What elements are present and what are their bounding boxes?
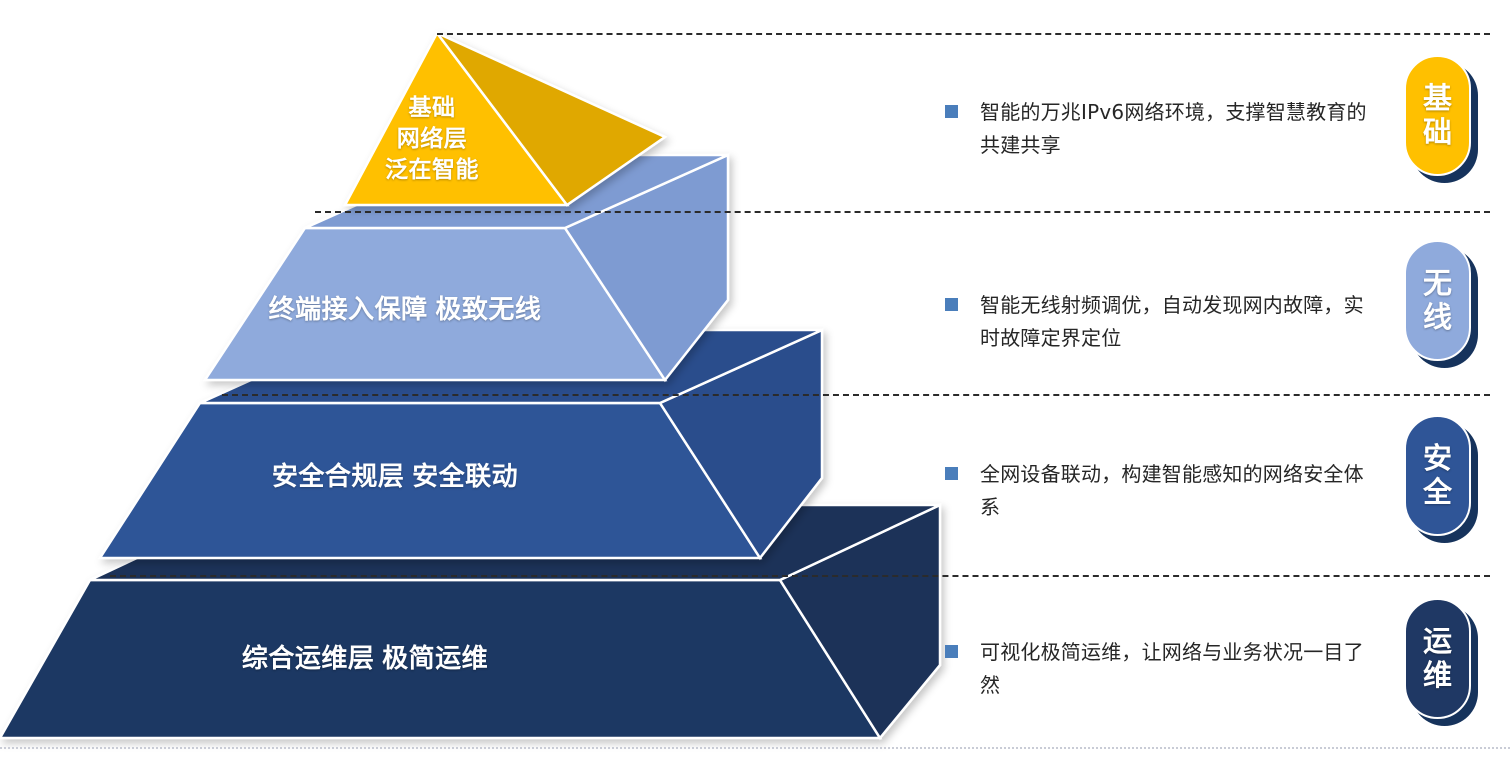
pill-body-security: 安全 (1404, 415, 1471, 536)
bullet-square-icon (945, 467, 958, 480)
pill-badge-wireless: 无线 (1404, 240, 1478, 368)
pill-label-security: 安全 (1421, 442, 1455, 510)
guide-line-wireless (315, 211, 1490, 213)
guide-line-security (222, 394, 1490, 396)
bullet-text-security: 全网设备联动，构建智能感知的网络安全体系 (980, 458, 1383, 524)
layer-operations-front (0, 580, 880, 738)
bullet-row-operations: 可视化极简运维，让网络与业务状况一目了然 (945, 636, 1383, 702)
pill-label-foundation: 基础 (1421, 82, 1455, 150)
bullet-square-icon (945, 298, 958, 311)
layer-security-front (100, 403, 760, 558)
pill-badge-foundation: 基础 (1404, 55, 1478, 183)
bullet-text-operations: 可视化极简运维，让网络与业务状况一目了然 (980, 636, 1383, 702)
pill-body-operations: 运维 (1404, 598, 1471, 719)
bullet-text-wireless: 智能无线射频调优，自动发现网内故障，实时故障定界定位 (980, 289, 1383, 355)
bullet-row-foundation: 智能的万兆IPv6网络环境，支撑智慧教育的共建共享 (945, 96, 1383, 162)
guide-line-baseline (0, 747, 1510, 749)
pill-label-operations: 运维 (1421, 625, 1455, 693)
bullet-text-foundation: 智能的万兆IPv6网络环境，支撑智慧教育的共建共享 (980, 96, 1383, 162)
pill-body-foundation: 基础 (1404, 55, 1471, 176)
pill-badge-security: 安全 (1404, 415, 1478, 543)
pill-badge-operations: 运维 (1404, 598, 1478, 726)
bullet-square-icon (945, 645, 958, 658)
bullet-row-security: 全网设备联动，构建智能感知的网络安全体系 (945, 458, 1383, 524)
pill-body-wireless: 无线 (1404, 240, 1471, 361)
bullet-row-wireless: 智能无线射频调优，自动发现网内故障，实时故障定界定位 (945, 289, 1383, 355)
guide-line-operations (110, 575, 1490, 577)
bullet-square-icon (945, 105, 958, 118)
diagram-canvas: 基础 网络层 泛在智能 终端接入保障 极致无线 安全合规层 安全联动 综合运维层… (0, 0, 1510, 779)
guide-line-foundation (437, 33, 1490, 35)
pill-label-wireless: 无线 (1421, 267, 1455, 335)
